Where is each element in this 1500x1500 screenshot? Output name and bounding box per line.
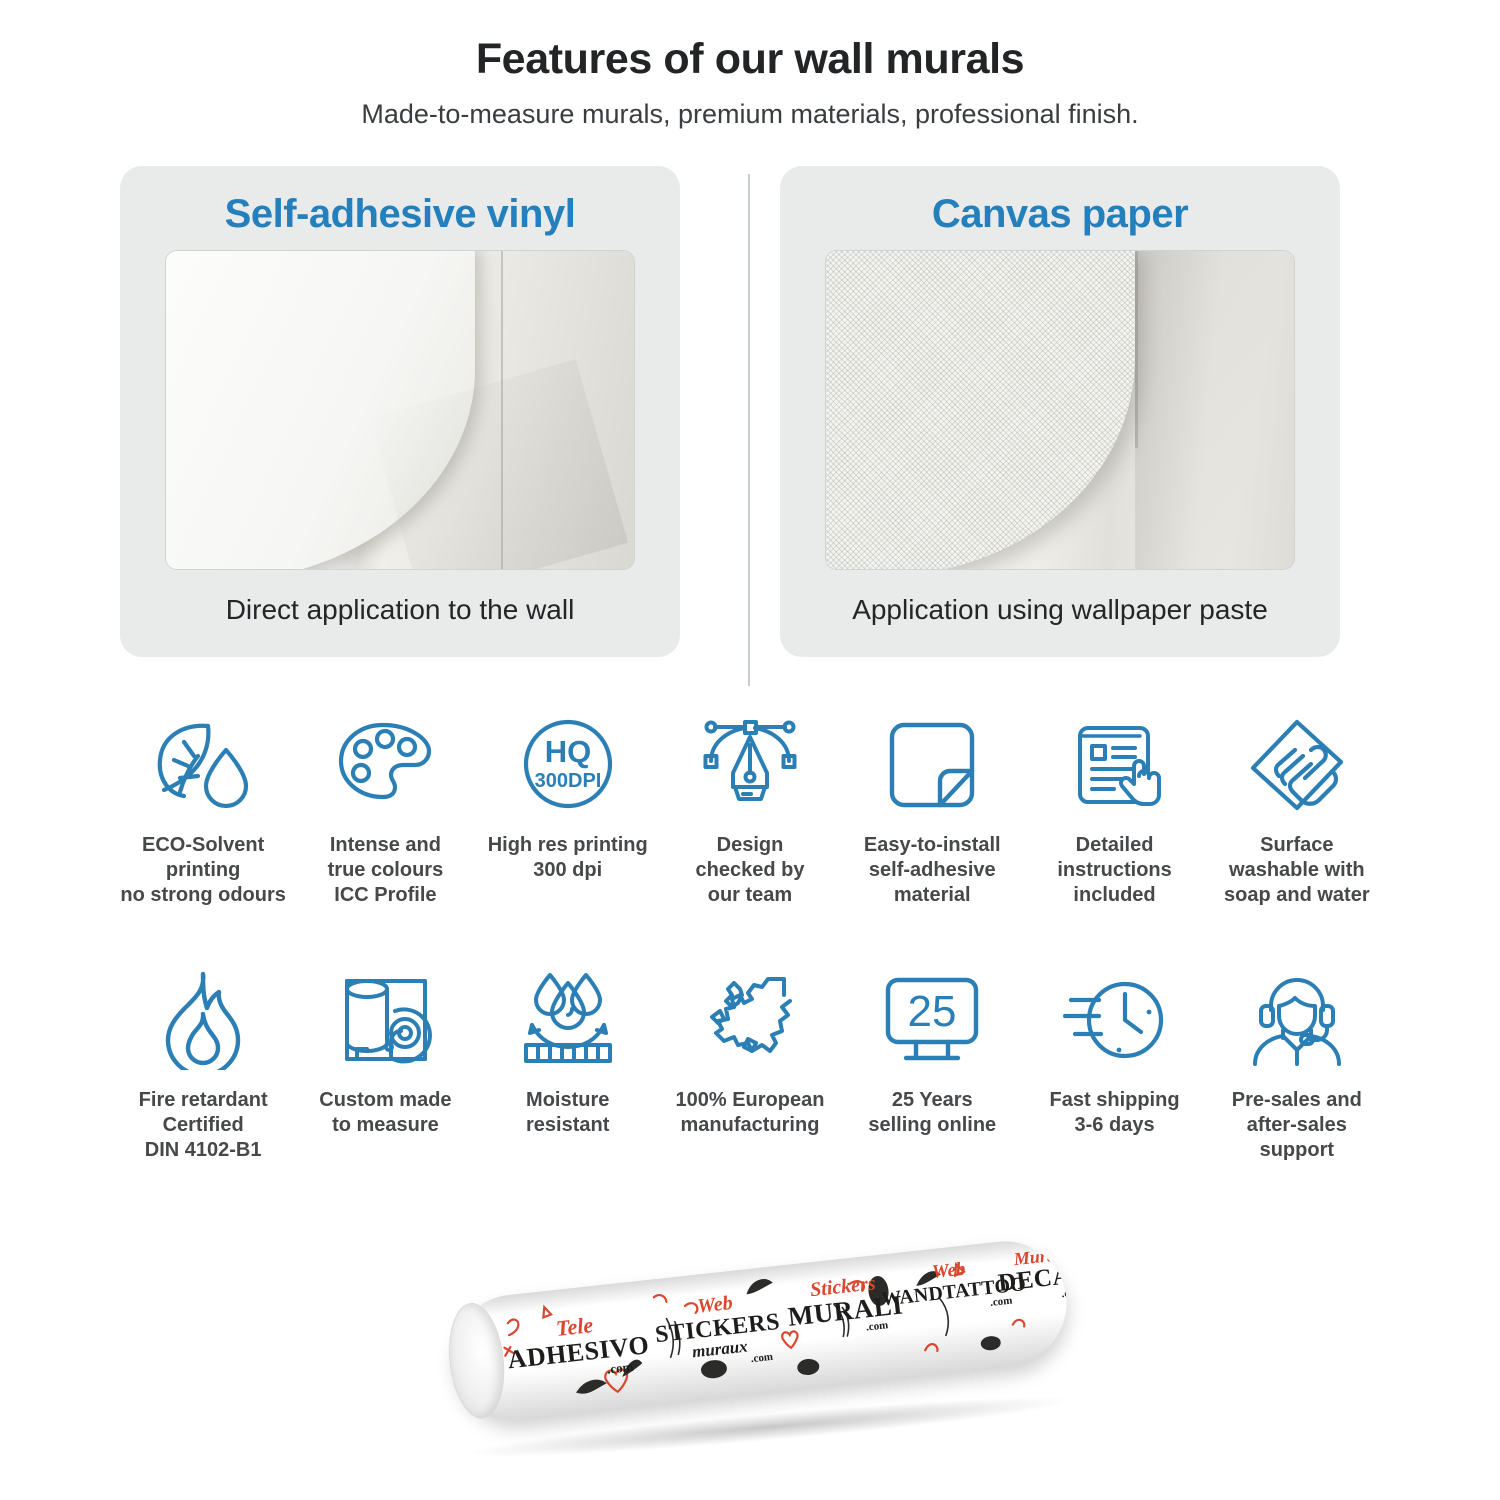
features-infographic-page: Features of our wall murals Made-to-meas… — [0, 0, 1500, 1500]
peeling-sticker-icon — [873, 711, 991, 819]
instructions-hand-icon — [1056, 711, 1174, 819]
feature-fire-retardant[interactable]: Fire retardant Certified DIN 4102-B1 — [112, 966, 294, 1163]
fast-clock-icon — [1056, 966, 1174, 1074]
feature-label: 25 Years selling online — [868, 1088, 996, 1138]
feature-high-res[interactable]: HQ 300DPI High res printing 300 dpi — [477, 711, 659, 908]
canvas-seam — [1135, 251, 1138, 448]
feature-custom-made[interactable]: Custom made to measure — [294, 966, 476, 1163]
monitor-badge-value: 25 — [908, 987, 957, 1036]
leaf-droplet-icon — [144, 711, 262, 819]
feature-label: Design checked by our team — [696, 833, 805, 908]
feature-instructions[interactable]: Detailed instructions included — [1023, 711, 1205, 908]
feature-label: Intense and true colours ICC Profile — [328, 833, 444, 908]
features-grid: ECO-Solvent printing no strong odours In… — [0, 711, 1500, 1163]
feature-label: ECO-Solvent printing no strong odours — [120, 833, 286, 908]
feature-design-checked[interactable]: Design checked by our team — [659, 711, 841, 908]
europe-map-icon — [691, 966, 809, 1074]
material-card-canvas-paper[interactable]: Canvas paper Application using wallpaper… — [780, 166, 1340, 657]
feature-label: Detailed instructions included — [1057, 833, 1171, 908]
hand-cleaning-cloth-icon — [1238, 711, 1356, 819]
card-title: Canvas paper — [804, 192, 1316, 236]
feature-label: Easy-to-install self-adhesive material — [864, 833, 1001, 908]
header: Features of our wall murals Made-to-meas… — [0, 0, 1500, 130]
feature-label: High res printing 300 dpi — [488, 833, 648, 883]
material-card-self-adhesive-vinyl[interactable]: Self-adhesive vinyl Direct application t… — [120, 166, 680, 657]
feature-washable[interactable]: Surface washable with soap and water — [1206, 711, 1388, 908]
feature-moisture-resistant[interactable]: Moisture resistant — [477, 966, 659, 1163]
feature-label: Fast shipping 3-6 days — [1050, 1088, 1180, 1138]
feature-true-colours[interactable]: Intense and true colours ICC Profile — [294, 711, 476, 908]
canvas-shadow — [1135, 251, 1294, 569]
feature-easy-install[interactable]: Easy-to-install self-adhesive material — [841, 711, 1023, 908]
flame-icon — [144, 966, 262, 1074]
tube-brand-stickers-muraux: Web STICKERS muraux .com — [644, 1287, 791, 1376]
hq-300dpi-badge-icon: HQ 300DPI — [509, 711, 627, 819]
paint-palette-icon — [326, 711, 444, 819]
svg-text:HQ: HQ — [544, 734, 591, 769]
tube-brand-murals-decal: Murals DECAL .com — [985, 1241, 1073, 1308]
feature-support[interactable]: Pre-sales and after-sales support — [1206, 966, 1388, 1163]
card-caption: Application using wallpaper paste — [804, 592, 1316, 627]
feature-label: Surface washable with soap and water — [1224, 833, 1370, 908]
canvas-roll-photo — [825, 250, 1295, 570]
water-droplets-surface-icon — [509, 966, 627, 1074]
feature-label: Pre-sales and after-sales support — [1232, 1088, 1362, 1163]
headset-agent-icon — [1238, 966, 1356, 1074]
material-cards: Self-adhesive vinyl Direct application t… — [0, 166, 1500, 657]
feature-label: Fire retardant Certified DIN 4102-B1 — [139, 1088, 268, 1163]
card-divider — [748, 174, 750, 686]
feature-row-1: ECO-Solvent printing no strong odours In… — [112, 711, 1388, 908]
shipping-tube-area: Tele ADHESIVO .com Web STICKERS muraux .… — [0, 1246, 1500, 1476]
feature-25-years[interactable]: 25 25 Years selling online — [841, 966, 1023, 1163]
card-title: Self-adhesive vinyl — [144, 192, 656, 236]
page-subtitle: Made-to-measure murals, premium material… — [0, 99, 1500, 130]
svg-text:300DPI: 300DPI — [534, 770, 601, 792]
feature-eco-solvent[interactable]: ECO-Solvent printing no strong odours — [112, 711, 294, 908]
feature-label: Moisture resistant — [526, 1088, 609, 1138]
card-caption: Direct application to the wall — [144, 592, 656, 627]
feature-row-2: Fire retardant Certified DIN 4102-B1 — [112, 966, 1388, 1163]
feature-label: 100% European manufacturing — [676, 1088, 825, 1138]
feature-label: Custom made to measure — [319, 1088, 451, 1138]
pen-nib-bezier-icon — [691, 711, 809, 819]
page-title: Features of our wall murals — [0, 36, 1500, 83]
feature-fast-shipping[interactable]: Fast shipping 3-6 days — [1023, 966, 1205, 1163]
roll-measuring-tape-icon — [326, 966, 444, 1074]
feature-european-manufacturing[interactable]: 100% European manufacturing — [659, 966, 841, 1163]
vinyl-roll-photo — [165, 250, 635, 570]
monitor-25-icon: 25 — [873, 966, 991, 1074]
